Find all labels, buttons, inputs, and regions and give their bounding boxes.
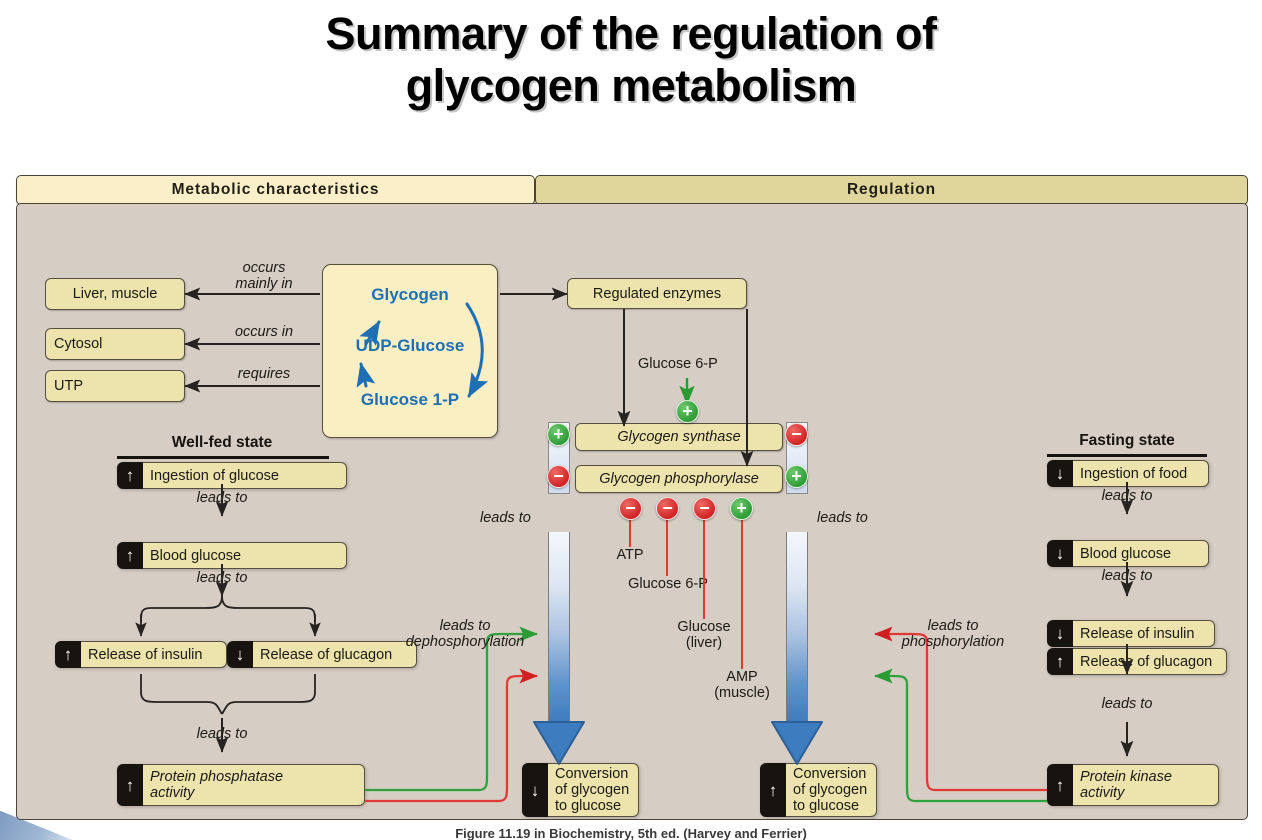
badge-effector-amp-muscle: +: [730, 497, 753, 520]
badge-effector-atp: −: [619, 497, 642, 520]
plus-badge-g6p-activates-synthase: +: [676, 400, 699, 423]
phosphorylase-effector-lines: [630, 499, 742, 669]
title-line-2: glycogen metabolism: [0, 60, 1262, 112]
page-title: Summary of the regulation of glycogen me…: [0, 8, 1262, 112]
header-regulation: Regulation: [535, 175, 1248, 205]
title-line-1: Summary of the regulation of: [0, 8, 1262, 60]
header-metabolic-characteristics: Metabolic characteristics: [16, 175, 535, 205]
figure-caption: Figure 11.19 in Biochemistry, 5th ed. (H…: [0, 826, 1262, 840]
badge-synthase-inhibited-fasting: −: [785, 423, 808, 446]
badge-synthase-activated-wellfed: +: [547, 423, 570, 446]
badge-effector-glucose-liver: −: [693, 497, 716, 520]
wellfed-connector-label: leads to dephosphorylation: [365, 618, 565, 650]
pathway-arrowhead-left: [532, 720, 586, 766]
wellfed-brace-split: [141, 596, 315, 622]
diagram-canvas: Liver, muscle Cytosol UTP occurs mainly …: [16, 203, 1248, 820]
fasting-connector-label: leads to phosphorylation: [853, 618, 1053, 650]
slide-root: Summary of the regulation of glycogen me…: [0, 0, 1262, 840]
glycogen-cycle-arrows: [361, 304, 482, 396]
wellfed-brace-merge: [141, 674, 315, 714]
connector-kinase-activates-phosphorylase: [875, 676, 1047, 801]
badge-effector-glucose-6p: −: [656, 497, 679, 520]
metabolic-leader-lines: [185, 294, 320, 386]
diagram-figure: Metabolic characteristics Regulation: [16, 175, 1248, 820]
regulated-enzyme-links: [624, 309, 747, 466]
wellfed-brace-arrows: [141, 614, 315, 636]
pathway-arrowhead-right: [770, 720, 824, 766]
connector-phosphatase-activates-synthase: [365, 634, 537, 790]
connector-kinase-inhibits-synthase: [875, 634, 1047, 790]
badge-phosphorylase-activated-fasting: +: [785, 465, 808, 488]
connector-phosphatase-inhibits-phosphorylase: [365, 676, 537, 801]
badge-phosphorylase-inhibited-wellfed: −: [547, 465, 570, 488]
pathway-bar-right: [786, 532, 808, 722]
